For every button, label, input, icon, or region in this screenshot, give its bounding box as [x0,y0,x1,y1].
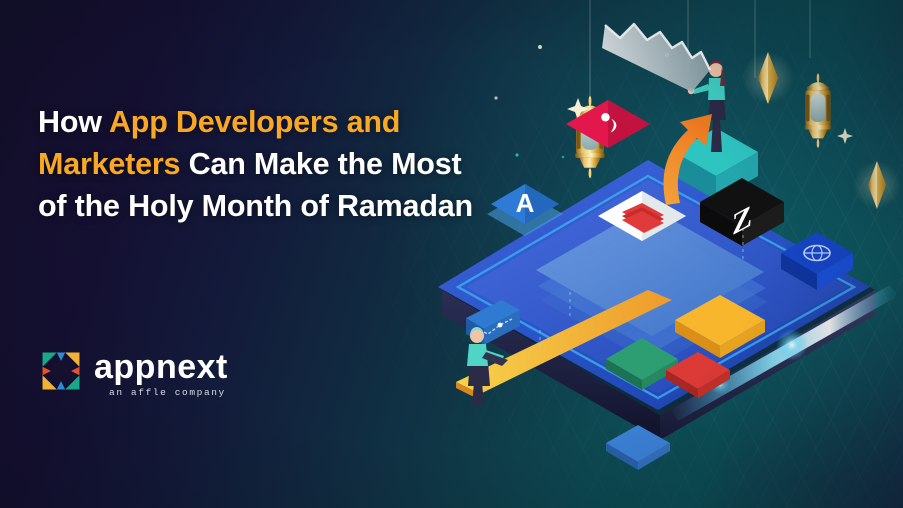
headline-accent-2: Marketers [38,147,180,181]
headline-line-1: How App Developers and [38,101,508,143]
svg-text:A: A [516,188,535,218]
ramadan-promo-banner: A [0,0,903,508]
headline-plain-3: of the Holy Month of Ramadan [38,189,473,223]
headline-accent-1: App Developers and [109,105,400,139]
appnext-logo[interactable]: appnext an affle company [40,348,228,398]
isometric-illustration: A [420,0,903,508]
lantern-right-icon [805,73,832,148]
descending-line-chart [602,24,710,92]
logo-wordmark: appnext [94,348,228,386]
logo-tagline: an affle company [94,387,228,398]
headline-plain-1: How [38,105,109,139]
logo-text-block: appnext an affle company [94,348,228,398]
appnext-star-mark-icon [40,350,82,392]
headline-line-3: of the Holy Month of Ramadan [38,185,508,227]
gold-diamond-ornament-right [853,161,901,209]
page-title: How App Developers and Marketers Can Mak… [38,101,508,227]
headline-line-2: Marketers Can Make the Most [38,143,508,185]
gold-diamond-ornament-top [742,52,794,104]
headline-plain-2: Can Make the Most [180,147,461,181]
